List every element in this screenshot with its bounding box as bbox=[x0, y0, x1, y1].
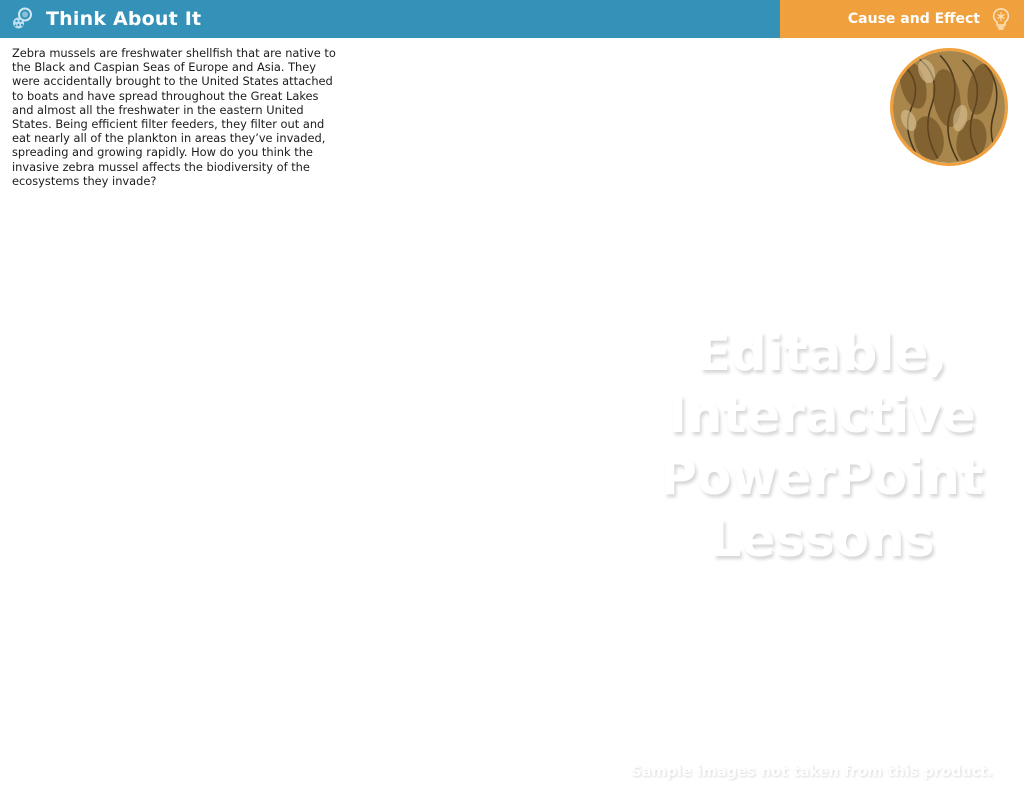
passage-text: Zebra mussels are freshwater shellfish t… bbox=[12, 46, 342, 188]
promo-headline: Editable, Interactive PowerPoint Lessons bbox=[620, 322, 1024, 570]
promo-line-2: Interactive bbox=[620, 384, 1024, 446]
think-about-it-title: Think About It bbox=[46, 8, 201, 30]
disclaimer-text: Sample images not taken from this produc… bbox=[600, 764, 1024, 780]
cause-and-effect-chip[interactable]: Cause and Effect bbox=[780, 0, 1024, 38]
chip-label: Cause and Effect bbox=[848, 11, 980, 27]
lightbulb-icon bbox=[990, 7, 1012, 31]
promo-line-1: Editable, bbox=[620, 322, 1024, 384]
molecule-magnifier-icon bbox=[10, 6, 36, 32]
poster-canvas: Biodiversity A diverse ecosystem is more… bbox=[0, 0, 1024, 791]
promo-line-4: Lessons bbox=[620, 508, 1024, 570]
zebra-mussels-photo bbox=[890, 48, 1008, 166]
think-about-it-panel[interactable]: Think About It Cause and Effect Zebra mu… bbox=[0, 0, 488, 163]
promo-line-3: PowerPoint bbox=[620, 446, 1024, 508]
